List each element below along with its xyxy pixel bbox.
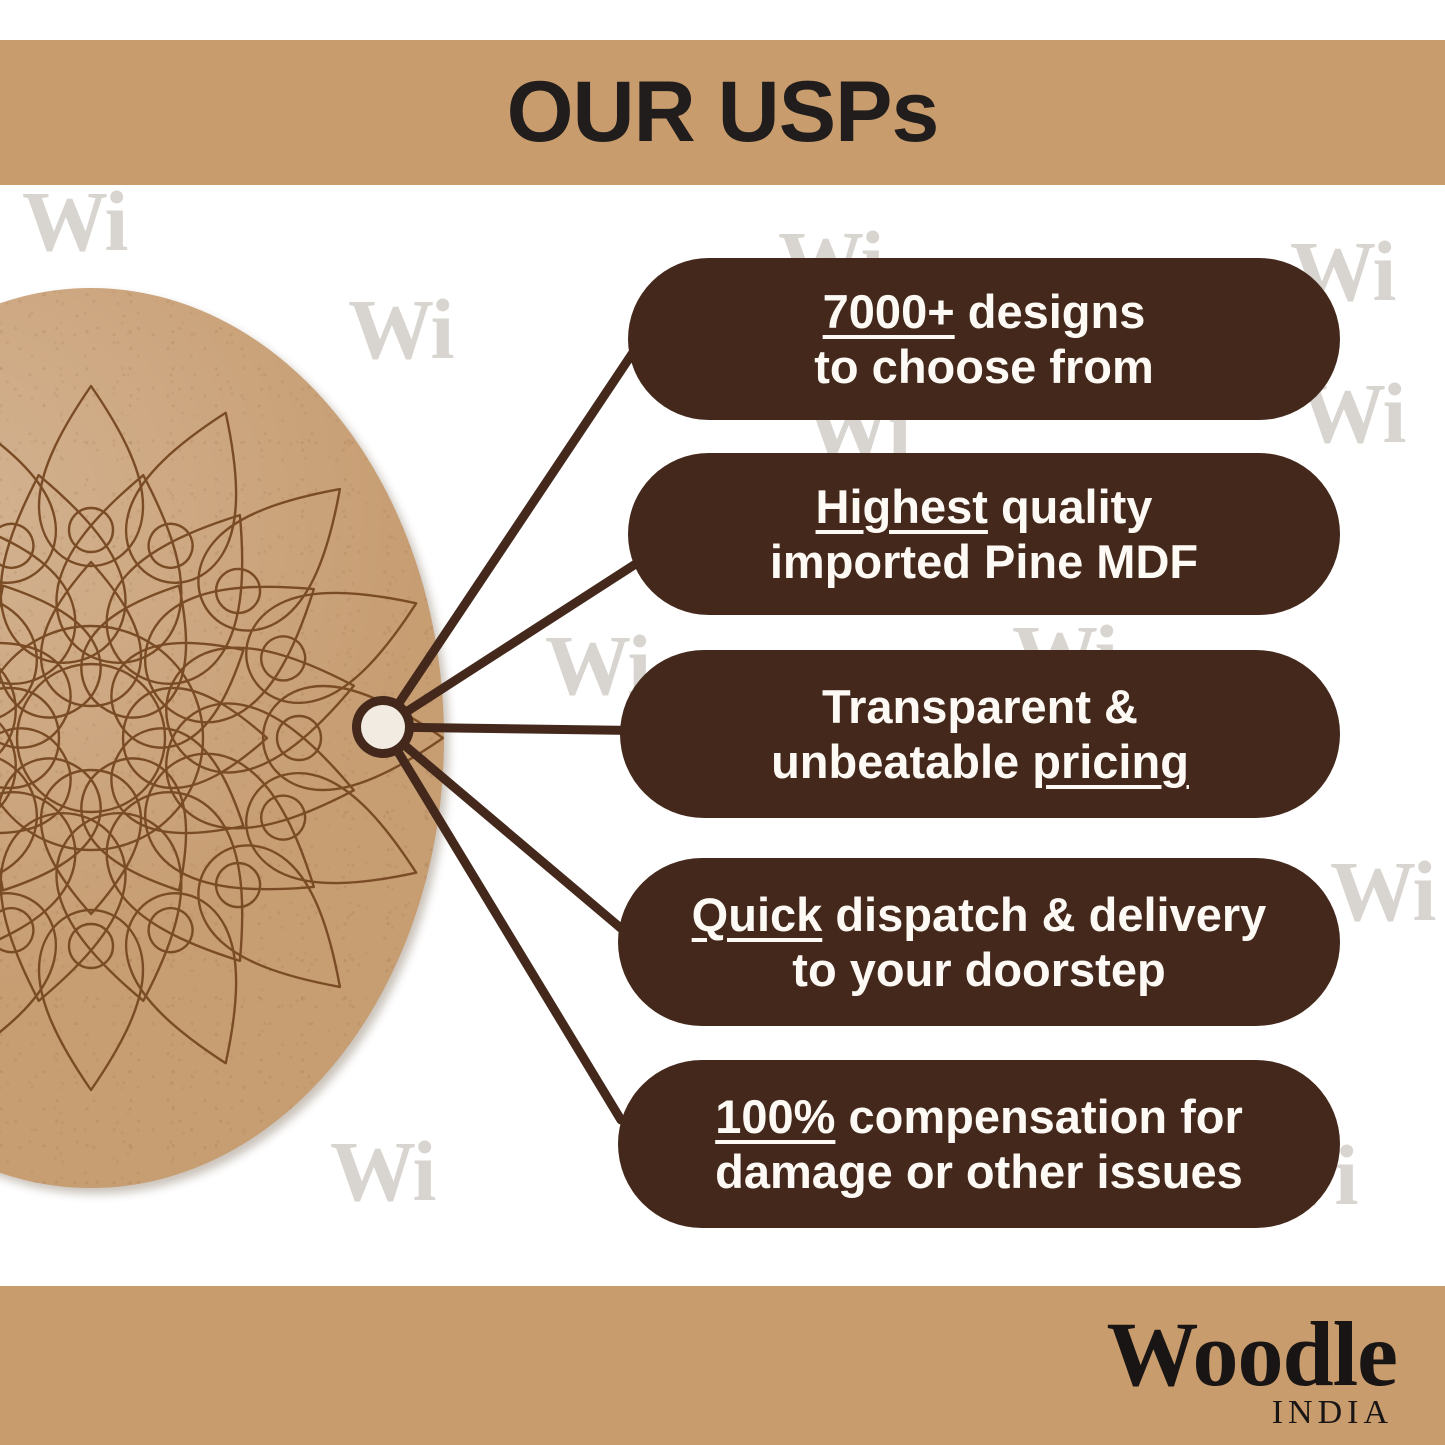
usp-pill-compensation[interactable]: 100% compensation for damage or other is… xyxy=(618,1060,1340,1228)
page-title: OUR USPs xyxy=(507,63,939,162)
usp-line2-rest: unbeatable xyxy=(771,735,1032,788)
usp-line1-rest: compensation for xyxy=(835,1090,1242,1143)
footer-band: Woodle INDIA xyxy=(0,1286,1445,1445)
header-band: OUR USPs xyxy=(0,40,1445,185)
usp-line2: to choose from xyxy=(814,340,1153,393)
infographic-canvas: Wi Wi Wi Wi Wi Wi Wi Wi Wi Wi Wi Wi xyxy=(0,0,1445,1445)
usp-line1-rest: dispatch & delivery xyxy=(822,888,1266,941)
usp-text-compensation: 100% compensation for damage or other is… xyxy=(689,1089,1269,1200)
usp-pill-material-quality[interactable]: Highest quality imported Pine MDF xyxy=(628,453,1340,615)
usp-pill-dispatch-delivery[interactable]: Quick dispatch & delivery to your doorst… xyxy=(618,858,1340,1026)
usp-line1-rest: quality xyxy=(988,480,1153,533)
usp-highlight-designs-count: 7000+ xyxy=(823,285,955,338)
usp-highlight-compensation: 100% xyxy=(715,1090,835,1143)
usp-text-material-quality: Highest quality imported Pine MDF xyxy=(744,479,1224,590)
usp-line1: Transparent & xyxy=(822,680,1138,733)
usp-text-designs-count: 7000+ designs to choose from xyxy=(788,284,1179,395)
usp-list: 7000+ designs to choose from Highest qua… xyxy=(0,0,1445,1445)
usp-highlight-dispatch-delivery: Quick xyxy=(692,888,823,941)
brand-name: Woodle xyxy=(1107,1308,1397,1400)
brand-logo: Woodle INDIA xyxy=(1107,1308,1397,1430)
usp-pill-pricing[interactable]: Transparent & unbeatable pricing xyxy=(620,650,1340,818)
usp-highlight-pricing: pricing xyxy=(1032,735,1189,788)
usp-line2: damage or other issues xyxy=(715,1145,1243,1198)
usp-text-pricing: Transparent & unbeatable pricing xyxy=(745,679,1215,790)
usp-text-dispatch-delivery: Quick dispatch & delivery to your doorst… xyxy=(666,887,1293,998)
usp-line2: imported Pine MDF xyxy=(770,535,1198,588)
usp-line1-rest: designs xyxy=(955,285,1146,338)
usp-pill-designs-count[interactable]: 7000+ designs to choose from xyxy=(628,258,1340,420)
usp-line2: to your doorstep xyxy=(792,943,1165,996)
usp-highlight-material-quality: Highest xyxy=(816,480,988,533)
